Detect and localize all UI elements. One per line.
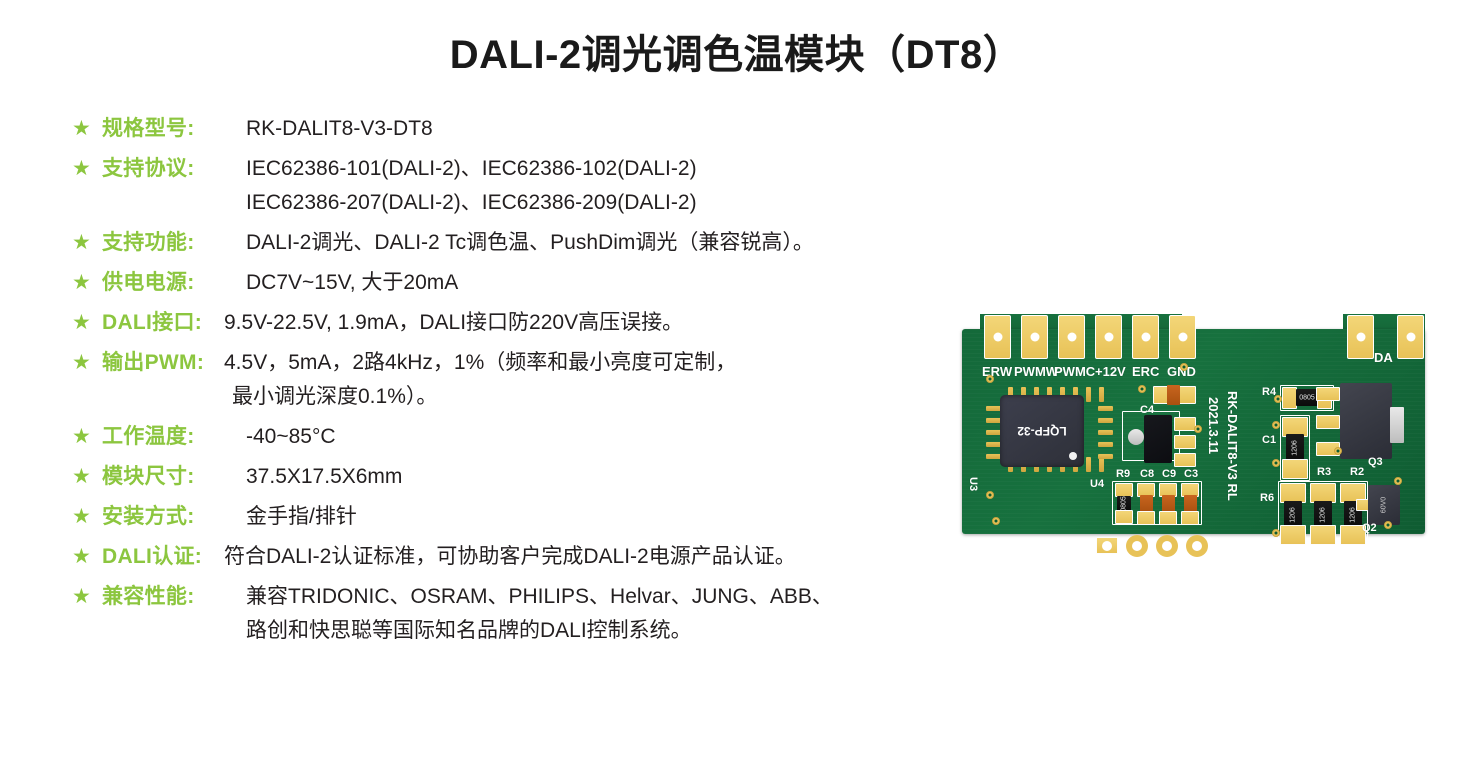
spec-value-line: 金手指/排针 [246,505,357,528]
star-icon: ★ [68,152,102,186]
q3-tab [1390,407,1404,443]
spec-row-model: ★ 规格型号: RK-DALIT8-V3-DT8 [68,112,998,146]
spec-value: 4.5V，5mA，2路4kHz，1%（频率和最小亮度可定制， 最小调光深度0.1… [220,346,998,414]
spec-row-protocols: ★ 支持协议: IEC62386-101(DALI-2)、IEC62386-10… [68,152,998,220]
silk-label-c1: C1 [1262,435,1276,446]
silk-label-r2: R2 [1350,467,1364,478]
spec-value-line-2: IEC62386-207(DALI-2)、IEC62386-209(DALI-2… [246,186,998,220]
specification-list: ★ 规格型号: RK-DALIT8-V3-DT8 ★ 支持协议: IEC6238… [68,112,998,654]
c8-pad-bot [1137,511,1155,525]
via-8 [1272,421,1280,429]
c1-pad-bot [1282,459,1308,479]
silk-part-number: RK-DALIT8-V3 RL [1226,391,1239,501]
regulator-sot89 [1144,415,1172,463]
pad-da-2 [1397,315,1424,359]
silk-label-r6: R6 [1260,493,1274,504]
spec-label: 供电电源: [102,266,234,300]
spec-row-mounting: ★ 安装方式: 金手指/排针 [68,500,998,534]
th-pad-2 [1156,535,1178,557]
ic-pin1-dot [1069,452,1077,460]
star-icon: ★ [68,112,102,146]
star-icon: ★ [68,420,102,454]
spec-value-line: -40~85°C [246,425,336,448]
r4-pad-l [1282,387,1297,409]
sot89-pad-r1 [1174,417,1196,431]
silk-label-pwmc: PWMC [1054,365,1095,378]
via-6 [1194,425,1202,433]
c4-capacitor [1167,385,1180,405]
spec-value-line: 9.5V-22.5V, 1.9mA，DALI接口防220V高压误接。 [224,311,683,334]
spec-label: 工作温度: [102,420,234,454]
polarity-triangle-icon [1210,537,1223,555]
via-5 [1138,385,1146,393]
silk-label-u3: U3 [967,477,978,491]
spec-row-output-pwm: ★ 输出PWM: 4.5V，5mA，2路4kHz，1%（频率和最小亮度可定制， … [68,346,998,414]
silk-date-code: 2021.3.11 [1207,397,1220,454]
spec-value-line: IEC62386-101(DALI-2)、IEC62386-102(DALI-2… [246,152,998,186]
star-icon: ★ [68,460,102,494]
spec-value-line: DC7V~15V, 大于20mA [246,271,458,294]
q3-pad-2 [1316,415,1340,429]
lqfp-pins-right [1084,404,1124,462]
spec-row-operating-temperature: ★ 工作温度: -40~85°C [68,420,998,454]
via-3 [992,517,1000,525]
spec-value: 兼容TRIDONIC、OSRAM、PHILIPS、Helvar、JUNG、ABB… [234,580,998,648]
spec-label: DALI接口: [102,306,220,340]
via-4 [1180,363,1188,371]
pcb-module-image: ERW PWMW PWMC +12V ERC GND DA [955,300,1435,550]
page-title: DALI-2调光调色温模块（DT8） [0,22,1473,80]
th-pad-square [1096,537,1118,554]
silk-label-r9: R9 [1116,469,1130,480]
sot89-tab-left [1128,429,1144,445]
via-10 [1272,529,1280,537]
pad-12v [1095,315,1122,359]
star-icon: ★ [68,580,102,614]
silk-label-12v: +12V [1095,365,1126,378]
resistor-c1: 1206 [1286,434,1304,462]
via-2 [986,491,994,499]
spec-value: DC7V~15V, 大于20mA [234,266,998,300]
spec-row-dali-certification: ★ DALI认证: 符合DALI-2认证标准，可协助客户完成DALI-2电源产品… [68,540,998,574]
q3-pad-1 [1316,387,1340,401]
spec-value-line: 符合DALI-2认证标准，可协助客户完成DALI-2电源产品认证。 [224,545,796,568]
pad-erw [984,315,1011,359]
spec-label: 输出PWM: [102,346,220,380]
th-pad-1 [1126,535,1148,557]
via-13 [1384,521,1392,529]
spec-label: 兼容性能: [102,580,234,614]
star-icon: ★ [68,226,102,260]
spec-value: 金手指/排针 [234,500,998,534]
c3-pad-bot [1181,511,1199,525]
star-icon: ★ [68,266,102,300]
spec-row-functions: ★ 支持功能: DALI-2调光、DALI-2 Tc调色温、PushDim调光（… [68,226,998,260]
star-icon: ★ [68,500,102,534]
sot89-pad-r3 [1174,453,1196,467]
spec-label: DALI认证: [102,540,220,574]
silk-label-c8: C8 [1140,469,1154,480]
spec-value: 符合DALI-2认证标准，可协助客户完成DALI-2电源产品认证。 [220,540,998,574]
spec-label: 支持协议: [102,152,234,186]
spec-value-line: RK-DALIT8-V3-DT8 [246,117,433,140]
spec-row-dali-interface: ★ DALI接口: 9.5V-22.5V, 1.9mA，DALI接口防220V高… [68,306,998,340]
r3-pad-bot [1310,525,1336,545]
spec-value-line-2: 最小调光深度0.1%）。 [224,380,998,414]
r3-pad-top [1310,483,1336,503]
spec-value: RK-DALIT8-V3-DT8 [234,112,998,146]
transistor-q2: 60V0 [1368,485,1400,525]
star-icon: ★ [68,306,102,340]
silk-label-c3: C3 [1184,469,1198,480]
r9-pad-bot [1115,510,1133,524]
silk-label-pwmw: PWMW [1014,365,1058,378]
via-11 [1334,447,1342,455]
silk-label-q2: Q2 [1362,523,1377,534]
spec-value-line: 4.5V，5mA，2路4kHz，1%（频率和最小亮度可定制， [224,346,998,380]
star-icon: ★ [68,540,102,574]
spec-label: 模块尺寸: [102,460,234,494]
silk-label-da: DA [1374,351,1393,364]
spec-value: 37.5X17.5X6mm [234,460,998,494]
spec-row-module-size: ★ 模块尺寸: 37.5X17.5X6mm [68,460,998,494]
sot89-pad-r2 [1174,435,1196,449]
pad-erc [1132,315,1159,359]
spec-value: 9.5V-22.5V, 1.9mA，DALI接口防220V高压误接。 [220,306,998,340]
r6-pad-bot [1280,525,1306,545]
silk-label-u4: U4 [1090,479,1104,490]
mosfet-q3 [1340,383,1392,459]
ic-marking: LQFP-32 [1017,424,1066,438]
spec-value-line-2: 路创和快思聪等国际知名品牌的DALI控制系统。 [246,614,998,648]
pcb-board: ERW PWMW PWMC +12V ERC GND DA [962,329,1425,534]
ic-lqfp-32: LQFP-32 [1000,395,1084,467]
r6-pad-top [1280,483,1306,503]
spec-value: IEC62386-101(DALI-2)、IEC62386-102(DALI-2… [234,152,998,220]
via-7 [1274,395,1282,403]
spec-label: 安装方式: [102,500,234,534]
via-9 [1272,459,1280,467]
pad-pwmc [1058,315,1085,359]
silk-label-erc: ERC [1132,365,1159,378]
spec-value: DALI-2调光、DALI-2 Tc调色温、PushDim调光（兼容锐高）。 [234,226,998,260]
spec-value-line: 兼容TRIDONIC、OSRAM、PHILIPS、Helvar、JUNG、ABB… [246,580,998,614]
via-12 [1394,477,1402,485]
silk-label-r3: R3 [1317,467,1331,478]
pad-pwmw [1021,315,1048,359]
pad-da-1 [1347,315,1374,359]
spec-value-line: 37.5X17.5X6mm [246,465,402,488]
spec-value-line: DALI-2调光、DALI-2 Tc调色温、PushDim调光（兼容锐高）。 [246,231,814,254]
th-pad-3 [1186,535,1208,557]
silk-label-q3: Q3 [1368,457,1383,468]
star-icon: ★ [68,346,102,380]
via-1 [986,375,994,383]
spec-label: 支持功能: [102,226,234,260]
spec-row-compatibility: ★ 兼容性能: 兼容TRIDONIC、OSRAM、PHILIPS、Helvar、… [68,580,998,648]
c9-pad-bot [1159,511,1177,525]
spec-label: 规格型号: [102,112,234,146]
silk-label-c9: C9 [1162,469,1176,480]
pad-gnd [1169,315,1196,359]
resistor-r4: 0805 [1296,389,1318,406]
spec-row-power-supply: ★ 供电电源: DC7V~15V, 大于20mA [68,266,998,300]
spec-value: -40~85°C [234,420,998,454]
